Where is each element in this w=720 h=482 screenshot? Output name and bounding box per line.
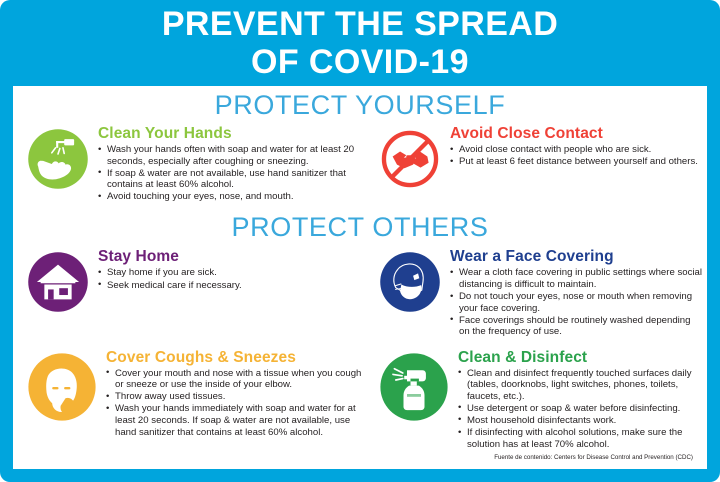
bullet-item: Wash your hands often with soap and wate… bbox=[98, 144, 369, 167]
bullet-item: Clean and disinfect frequently touched s… bbox=[458, 368, 703, 403]
handwashing-icon bbox=[27, 128, 89, 190]
bullet-list: Wear a cloth face covering in public set… bbox=[450, 267, 703, 338]
card-body: Avoid Close Contact Avoid close contact … bbox=[450, 125, 703, 203]
bullet-item: Seek medical care if necessary. bbox=[98, 280, 369, 292]
bullet-item: Cover your mouth and nose with a tissue … bbox=[106, 368, 369, 391]
source-credit: Fuente de contenido: Centers for Disease… bbox=[494, 454, 693, 462]
poster-title-banner: PREVENT THE SPREAD OF COVID-19 bbox=[0, 0, 720, 86]
section-row-protect-yourself: Clean Your Hands Wash your hands often w… bbox=[13, 125, 707, 203]
card-title: Stay Home bbox=[98, 248, 369, 266]
bullet-item: Use detergent or soap & water before dis… bbox=[458, 403, 703, 415]
bullet-item: Avoid close contact with people who are … bbox=[450, 144, 703, 156]
card-wear-face-covering: Wear a Face Covering Wear a cloth face c… bbox=[373, 248, 707, 338]
content-panel: PROTECT YOURSELF bbox=[13, 86, 707, 469]
covid-prevention-poster: PREVENT THE SPREAD OF COVID-19 PROTECT Y… bbox=[0, 0, 720, 482]
face-mask-icon bbox=[379, 251, 441, 313]
bullet-list: Wash your hands often with soap and wate… bbox=[98, 144, 369, 203]
bullet-item: Most household disinfectants work. bbox=[458, 415, 703, 427]
bullet-item: Put at least 6 feet distance between you… bbox=[450, 156, 703, 168]
card-clean-disinfect: Clean & Disinfect Clean and disinfect fr… bbox=[373, 349, 707, 451]
bullet-item: Stay home if you are sick. bbox=[98, 267, 369, 279]
card-clean-your-hands: Clean Your Hands Wash your hands often w… bbox=[13, 125, 373, 203]
card-title: Clean Your Hands bbox=[98, 125, 369, 143]
bullet-list: Cover your mouth and nose with a tissue … bbox=[106, 368, 369, 439]
card-title: Avoid Close Contact bbox=[450, 125, 703, 143]
section-header-protect-others: PROTECT OTHERS bbox=[13, 212, 707, 242]
bullet-item: Wear a cloth face covering in public set… bbox=[450, 267, 703, 290]
poster-title-line-1: PREVENT THE SPREAD bbox=[162, 5, 558, 43]
poster-title-line-2: OF COVID-19 bbox=[251, 43, 469, 81]
card-body: Wear a Face Covering Wear a cloth face c… bbox=[450, 248, 703, 338]
bullet-list: Clean and disinfect frequently touched s… bbox=[458, 368, 703, 451]
bullet-list: Avoid close contact with people who are … bbox=[450, 144, 703, 168]
bullet-item: If soap & water are not available, use h… bbox=[98, 168, 369, 191]
card-title: Cover Coughs & Sneezes bbox=[106, 349, 369, 367]
bullet-item: Wash your hands immediately with soap an… bbox=[106, 403, 369, 438]
bullet-item: Do not touch your eyes, nose or mouth wh… bbox=[450, 291, 703, 314]
spray-bottle-icon bbox=[379, 352, 449, 422]
section-header-protect-yourself: PROTECT YOURSELF bbox=[13, 90, 707, 120]
card-body: Clean & Disinfect Clean and disinfect fr… bbox=[458, 349, 703, 451]
card-cover-coughs-sneezes: Cover Coughs & Sneezes Cover your mouth … bbox=[13, 349, 373, 451]
bullet-item: If disinfecting with alcohol solutions, … bbox=[458, 427, 703, 450]
card-avoid-close-contact: Avoid Close Contact Avoid close contact … bbox=[373, 125, 707, 203]
section-row-protect-others-top: Stay Home Stay home if you are sick. See… bbox=[13, 248, 707, 338]
bullet-list: Stay home if you are sick. Seek medical … bbox=[98, 267, 369, 291]
card-body: Stay Home Stay home if you are sick. See… bbox=[98, 248, 369, 338]
bullet-item: Throw away used tissues. bbox=[106, 391, 369, 403]
card-body: Clean Your Hands Wash your hands often w… bbox=[98, 125, 369, 203]
section-row-protect-others-bottom: Cover Coughs & Sneezes Cover your mouth … bbox=[13, 349, 707, 451]
no-handshake-icon bbox=[379, 128, 441, 190]
house-icon bbox=[27, 251, 89, 313]
cough-cover-icon bbox=[27, 352, 97, 422]
card-stay-home: Stay Home Stay home if you are sick. See… bbox=[13, 248, 373, 338]
card-body: Cover Coughs & Sneezes Cover your mouth … bbox=[106, 349, 369, 451]
bullet-item: Face coverings should be routinely washe… bbox=[450, 315, 703, 338]
card-title: Clean & Disinfect bbox=[458, 349, 703, 367]
card-title: Wear a Face Covering bbox=[450, 248, 703, 266]
bullet-item: Avoid touching your eyes, nose, and mout… bbox=[98, 191, 369, 203]
